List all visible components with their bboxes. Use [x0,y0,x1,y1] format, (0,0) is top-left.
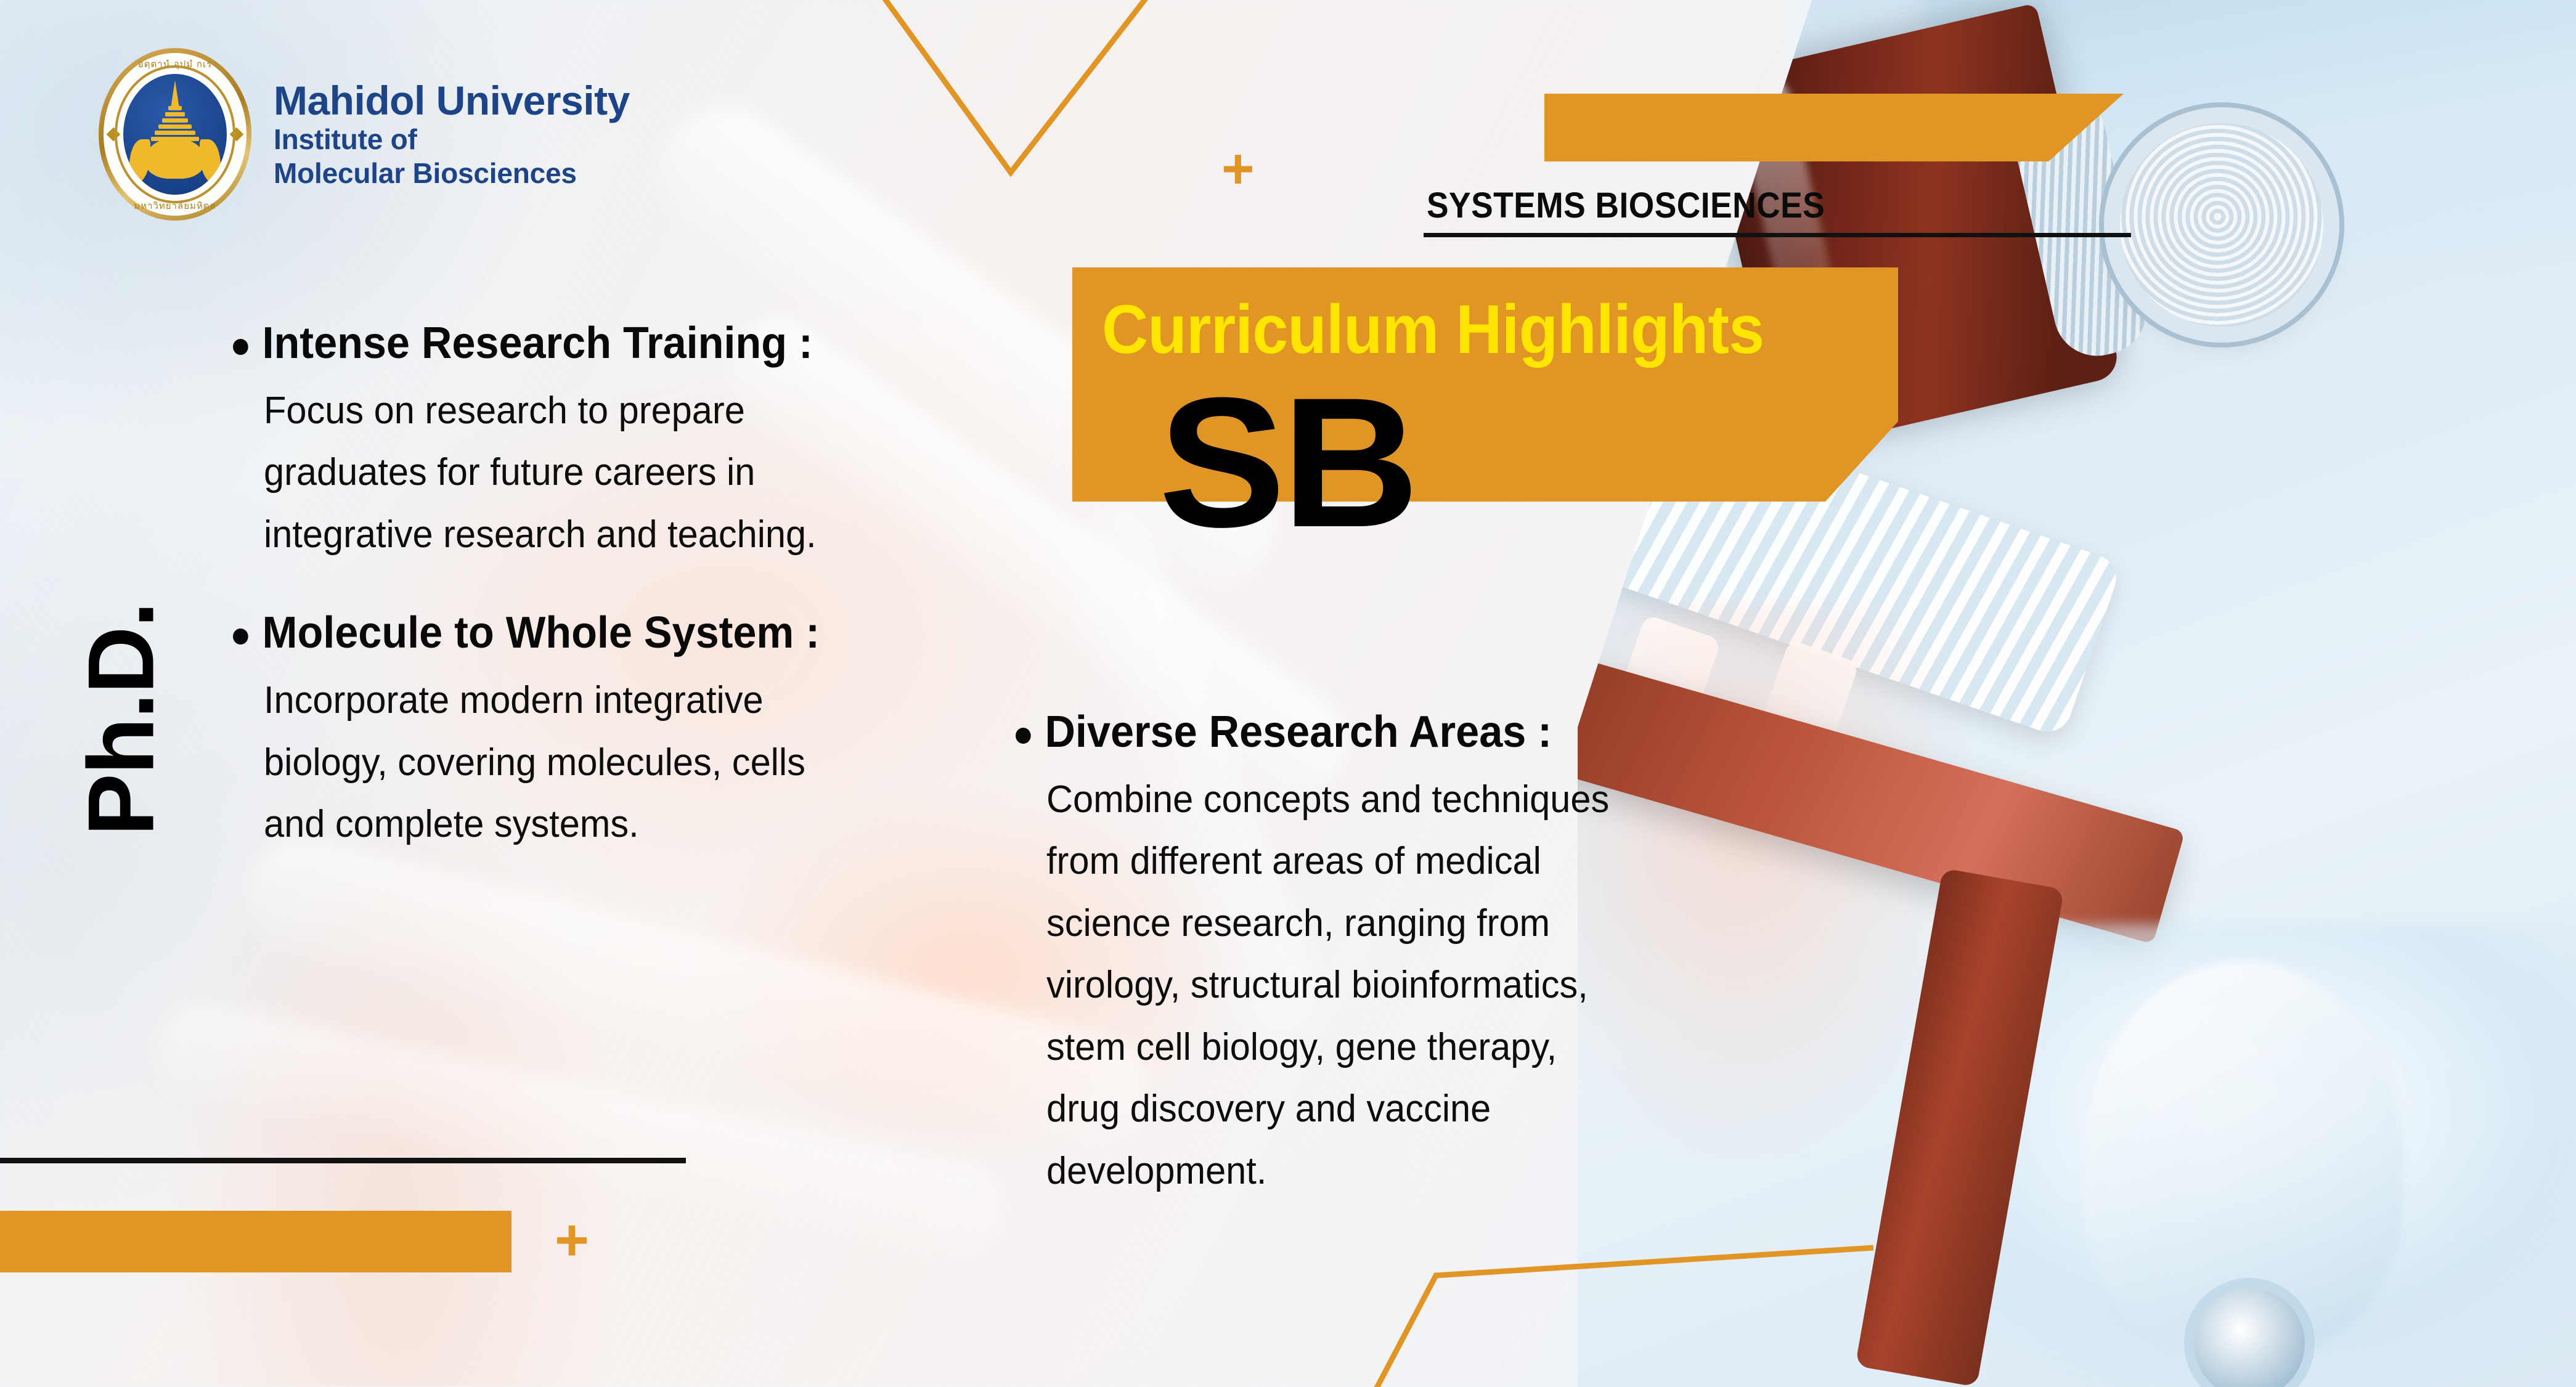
program-abbreviation: SB [1159,370,1416,555]
bullet-heading: Diverse Research Areas : [1045,709,1552,755]
brand-text: Mahidol University Institute of Molecula… [274,79,630,190]
institute-line-1: Institute of [274,123,630,156]
crown-spire-icon [171,80,179,108]
accent-bar-top [1544,94,2124,161]
brand-lockup: อตฺตานํ อุปมํ กเร มหาวิทยาลัยมหิดล Mahid… [99,48,630,221]
crown-tiers-icon [149,106,202,143]
chevron-line-top [844,0,1399,185]
bullet-body: Focus on research to prepare graduates f… [264,380,862,566]
crown-swirl-icon [132,177,218,195]
microscope-coarse-knob [2120,123,2323,327]
poster-canvas: + + SYSTEMS BIOSCIENCES Curriculum Highl… [0,0,2576,1387]
plus-icon-bottom: + [555,1211,589,1270]
bullet-heading: Intense Research Training : [263,320,813,367]
bullet-dot-icon [233,628,248,645]
chevron-line-bottom [1282,1171,2021,1387]
bullet-column-right: Diverse Research Areas : Combine concept… [1016,709,1669,1202]
bullet-dot-icon [233,339,248,355]
curriculum-highlights-title: Curriculum Highlights [1102,290,1764,369]
bullet-heading-wrapper: Molecule to Whole System : [233,610,895,656]
bullet-column-left: Intense Research Training : Focus on res… [233,320,929,855]
bullet-item: Intense Research Training : Focus on res… [233,320,929,566]
bullet-item: Diverse Research Areas : Combine concept… [1016,709,1669,1202]
bullet-heading: Molecule to Whole System : [263,610,820,656]
bullet-heading-wrapper: Intense Research Training : [233,320,895,367]
program-title: SYSTEMS BIOSCIENCES [1427,185,1825,226]
degree-label: Ph.D. [68,587,176,852]
footer-rule [0,1158,686,1163]
bullet-body: Incorporate modern integrative biology, … [264,670,862,855]
plus-icon-top: + [1221,140,1255,197]
bullet-dot-icon [1016,728,1031,744]
bullet-heading-wrapper: Diverse Research Areas : [1016,709,1636,755]
mahidol-seal-icon: อตฺตานํ อุปมํ กเร มหาวิทยาลัยมหิดล [99,48,251,221]
bullet-item: Molecule to Whole System : Incorporate m… [233,610,929,855]
institute-line-2: Molecular Biosciences [274,157,630,190]
bullet-body: Combine concepts and techniques from dif… [1046,769,1638,1202]
university-name: Mahidol University [274,79,630,123]
crown-body-icon [145,138,205,179]
header-underline [1424,233,2131,237]
seal-blue-field [123,74,227,195]
accent-bar-bottom [0,1211,512,1272]
